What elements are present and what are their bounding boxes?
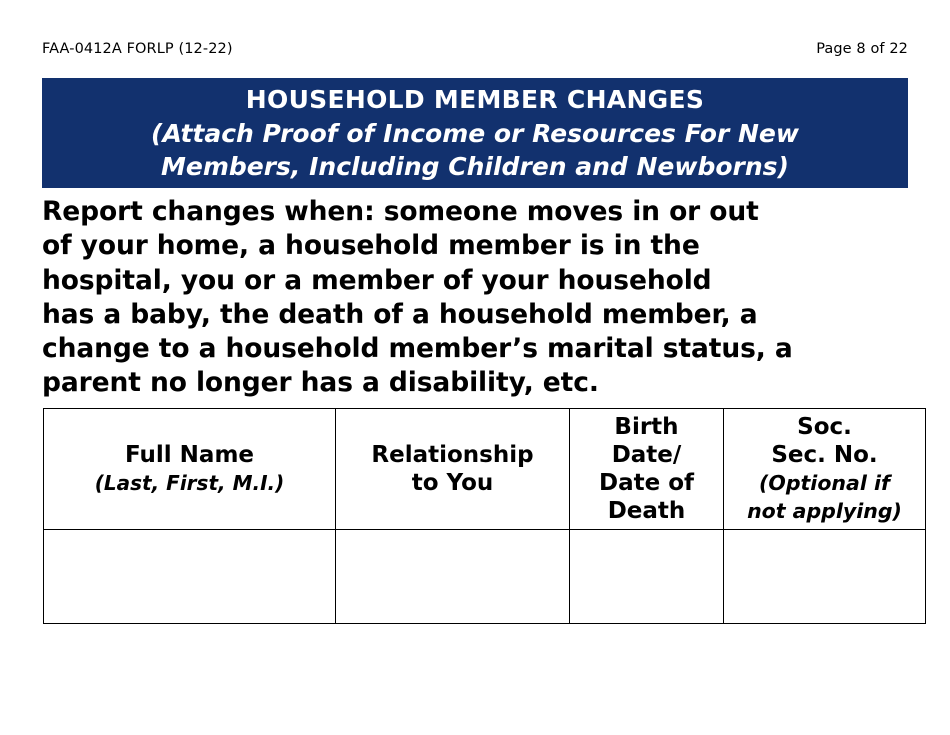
column-header-birth-date: Birth Date/ Date of Death <box>570 409 724 530</box>
column-header-birth-date-line-1: Birth <box>572 413 721 441</box>
cell-birth-date[interactable] <box>570 530 724 624</box>
column-header-birth-date-line-4: Death <box>572 497 721 525</box>
household-member-table: Full Name (Last, First, M.I.) Relationsh… <box>43 408 926 624</box>
table-row <box>44 530 926 624</box>
section-title-banner: HOUSEHOLD MEMBER CHANGES (Attach Proof o… <box>42 78 908 188</box>
instructions-line: Report changes when: someone moves in or… <box>42 195 922 229</box>
column-header-relationship-line-1: Relationship <box>338 441 567 469</box>
instructions-line: hospital, you or a member of your househ… <box>42 264 922 298</box>
column-header-relationship-line-2: to You <box>338 469 567 497</box>
section-subtitle-line-2: Members, Including Children and Newborns… <box>161 150 789 183</box>
column-header-ssn-sub-line-1: (Optional if <box>726 469 923 497</box>
column-header-birth-date-line-3: Date of <box>572 469 721 497</box>
column-header-relationship: Relationship to You <box>336 409 570 530</box>
instructions-line: has a baby, the death of a household mem… <box>42 298 922 332</box>
column-header-ssn-sub-line-2: not applying) <box>726 497 923 525</box>
table-header-row: Full Name (Last, First, M.I.) Relationsh… <box>44 409 926 530</box>
instructions-line: change to a household member’s marital s… <box>42 332 922 366</box>
column-header-ssn-line-1: Soc. <box>726 413 923 441</box>
section-title: HOUSEHOLD MEMBER CHANGES <box>246 83 704 117</box>
cell-social-security-number[interactable] <box>724 530 926 624</box>
instructions-line: parent no longer has a disability, etc. <box>42 366 922 400</box>
column-header-full-name-sub: (Last, First, M.I.) <box>46 469 333 497</box>
column-header-ssn-line-2: Sec. No. <box>726 441 923 469</box>
instructions-paragraph: Report changes when: someone moves in or… <box>42 195 922 401</box>
page-number: Page 8 of 22 <box>816 41 908 57</box>
page-header: FAA-0412A FORLP (12-22) Page 8 of 22 <box>42 38 908 60</box>
column-header-social-security-number: Soc. Sec. No. (Optional if not applying) <box>724 409 926 530</box>
section-subtitle-line-1: (Attach Proof of Income or Resources For… <box>151 117 799 150</box>
column-header-birth-date-line-2: Date/ <box>572 441 721 469</box>
cell-full-name[interactable] <box>44 530 336 624</box>
cell-relationship[interactable] <box>336 530 570 624</box>
column-header-full-name: Full Name (Last, First, M.I.) <box>44 409 336 530</box>
column-header-full-name-main: Full Name <box>46 441 333 469</box>
instructions-line: of your home, a household member is in t… <box>42 229 922 263</box>
form-identifier: FAA-0412A FORLP (12-22) <box>42 41 233 57</box>
